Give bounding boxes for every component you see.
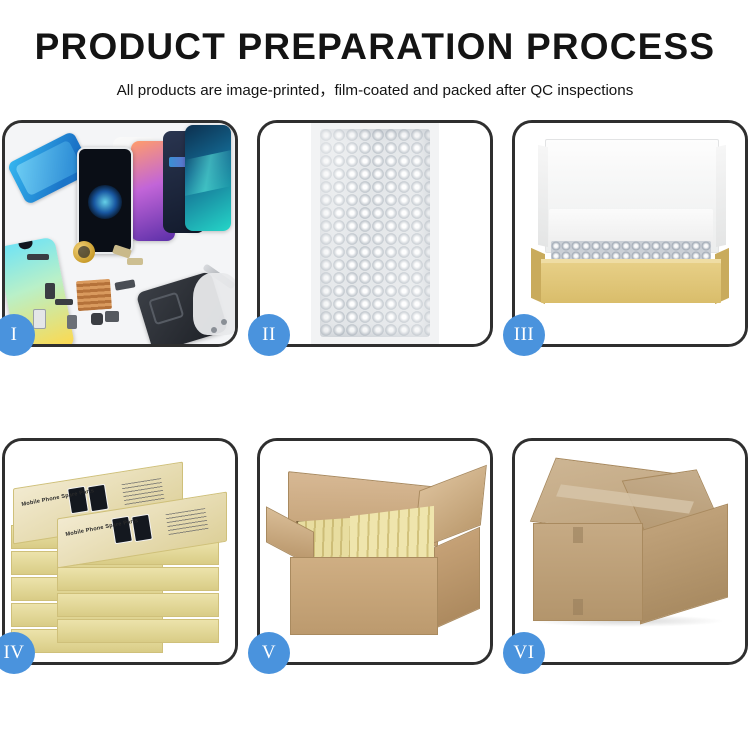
step-badge-3: III xyxy=(503,314,545,356)
step-3-image xyxy=(515,123,745,344)
spare-part xyxy=(45,283,55,299)
phone-screen-teal xyxy=(185,125,231,231)
bubble-wrap-sheet xyxy=(320,129,430,337)
spare-part xyxy=(33,309,46,329)
spare-part xyxy=(114,279,135,290)
box-front-kraft xyxy=(541,263,721,303)
chip-grid-part xyxy=(76,279,112,311)
step-badge-1: I xyxy=(0,314,35,356)
step-2-image xyxy=(260,123,490,344)
step-4-image: Mobile Phone Spare Parts Mobile Phone Sp… xyxy=(5,441,235,662)
retail-box-edge xyxy=(57,593,219,617)
page-header: PRODUCT PREPARATION PROCESS All products… xyxy=(0,0,750,100)
step-badge-5: V xyxy=(248,632,290,674)
carton-seam xyxy=(573,599,583,615)
step-panel-1: I xyxy=(2,120,238,347)
step-panel-5: V xyxy=(257,438,493,665)
screw-part xyxy=(221,319,227,325)
carton-side-panel xyxy=(434,527,480,629)
step-badge-6: VI xyxy=(503,632,545,674)
step-panel-2: II xyxy=(257,120,493,347)
spare-part xyxy=(55,299,73,305)
spare-part xyxy=(27,254,49,260)
carton-front-panel xyxy=(533,523,643,621)
screw-part xyxy=(211,327,217,333)
phone-screen-black xyxy=(77,147,133,254)
page-title: PRODUCT PREPARATION PROCESS xyxy=(0,28,750,67)
step-badge-4: IV xyxy=(0,632,35,674)
speaker-coil-part xyxy=(73,241,95,263)
carton-seam xyxy=(573,527,583,543)
retail-box-edge xyxy=(57,619,219,643)
bubble-wrap-sheen xyxy=(320,129,430,337)
box-stack: Mobile Phone Spare Parts Mobile Phone Sp… xyxy=(11,459,229,655)
page-subtitle: All products are image-printed，film-coat… xyxy=(0,78,750,100)
retail-box-edge xyxy=(57,567,219,591)
spare-part xyxy=(127,258,143,265)
spare-part xyxy=(67,315,77,329)
step-6-image xyxy=(515,441,745,662)
spare-part xyxy=(91,313,103,325)
process-steps-grid: I II III xyxy=(4,120,746,665)
step-panel-4: Mobile Phone Spare Parts Mobile Phone Sp… xyxy=(2,438,238,665)
carton-front-panel xyxy=(290,557,438,635)
hand-image xyxy=(193,273,235,335)
step-5-image xyxy=(260,441,490,662)
step-badge-2: II xyxy=(248,314,290,356)
step-panel-6: VI xyxy=(512,438,748,665)
step-panel-3: III xyxy=(512,120,748,347)
spare-part xyxy=(105,311,119,322)
step-1-image xyxy=(5,123,235,344)
